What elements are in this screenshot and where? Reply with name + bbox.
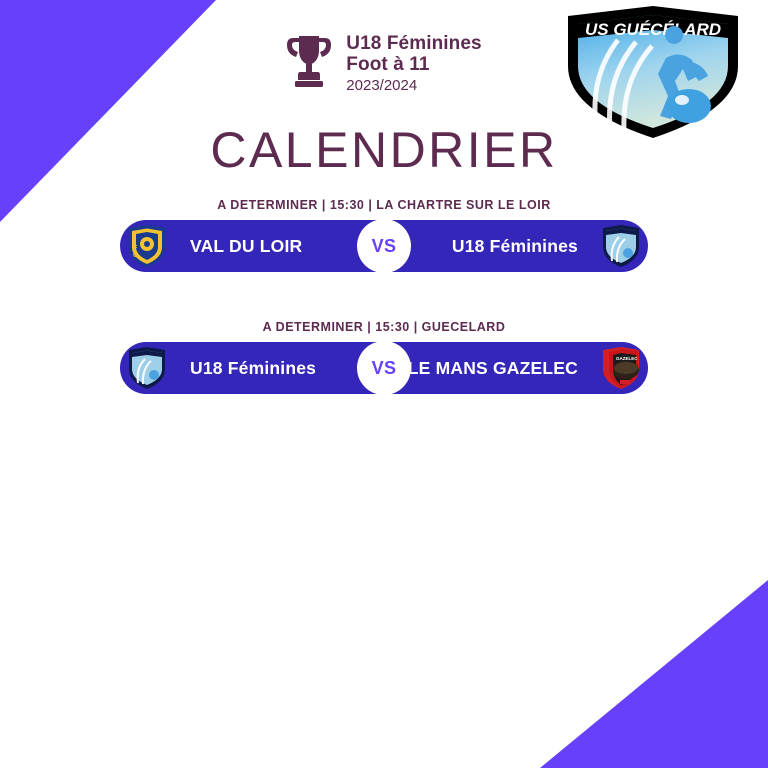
svg-text:US GUÉCÉLARD: US GUÉCÉLARD	[585, 20, 721, 39]
match-list: A DETERMINER | 15:30 | LA CHARTRE SUR LE…	[0, 198, 768, 394]
away-team-name: LE MANS GAZELEC	[408, 358, 578, 379]
le-mans-gazelec-crest-icon: GAZELEC	[600, 346, 642, 390]
svg-text:C: C	[133, 253, 138, 259]
trophy-icon	[286, 32, 332, 88]
svg-text:F: F	[133, 245, 138, 252]
decorative-corner-top-left	[0, 0, 216, 222]
match-block: A DETERMINER | 15:30 | LA CHARTRE SUR LE…	[0, 198, 768, 272]
away-team: U18 Féminines	[411, 224, 648, 268]
match-block: A DETERMINER | 15:30 | GUECELARD	[0, 320, 768, 394]
calendar-poster: US GUÉCÉLARD	[0, 0, 768, 768]
page-title: CALENDRIER	[0, 121, 768, 179]
us-guecelard-crest-icon	[126, 346, 168, 390]
match-meta: A DETERMINER | 15:30 | LA CHARTRE SUR LE…	[0, 198, 768, 212]
competition-line-2: Foot à 11	[346, 55, 481, 76]
vs-badge: VS	[357, 219, 411, 273]
away-team: LE MANS GAZELEC GAZELEC	[411, 346, 648, 390]
val-du-loir-crest-icon: F C	[126, 224, 168, 268]
svg-text:GAZELEC: GAZELEC	[616, 356, 638, 361]
home-team-name: U18 Féminines	[190, 358, 316, 379]
match-row[interactable]: F C VAL DU LOIR VS U18 Féminines	[120, 220, 648, 272]
away-team-name: U18 Féminines	[452, 236, 578, 257]
home-team: U18 Féminines	[120, 346, 357, 390]
competition-season: 2023/2024	[346, 78, 481, 94]
vs-badge: VS	[357, 341, 411, 395]
decorative-corner-bottom-right	[540, 580, 768, 768]
match-meta: A DETERMINER | 15:30 | GUECELARD	[0, 320, 768, 334]
competition-line-1: U18 Féminines	[346, 34, 481, 55]
match-row[interactable]: U18 Féminines VS LE MANS GAZELEC GAZELEC	[120, 342, 648, 394]
us-guecelard-crest-icon	[600, 224, 642, 268]
home-team-name: VAL DU LOIR	[190, 236, 302, 257]
home-team: F C VAL DU LOIR	[120, 224, 357, 268]
